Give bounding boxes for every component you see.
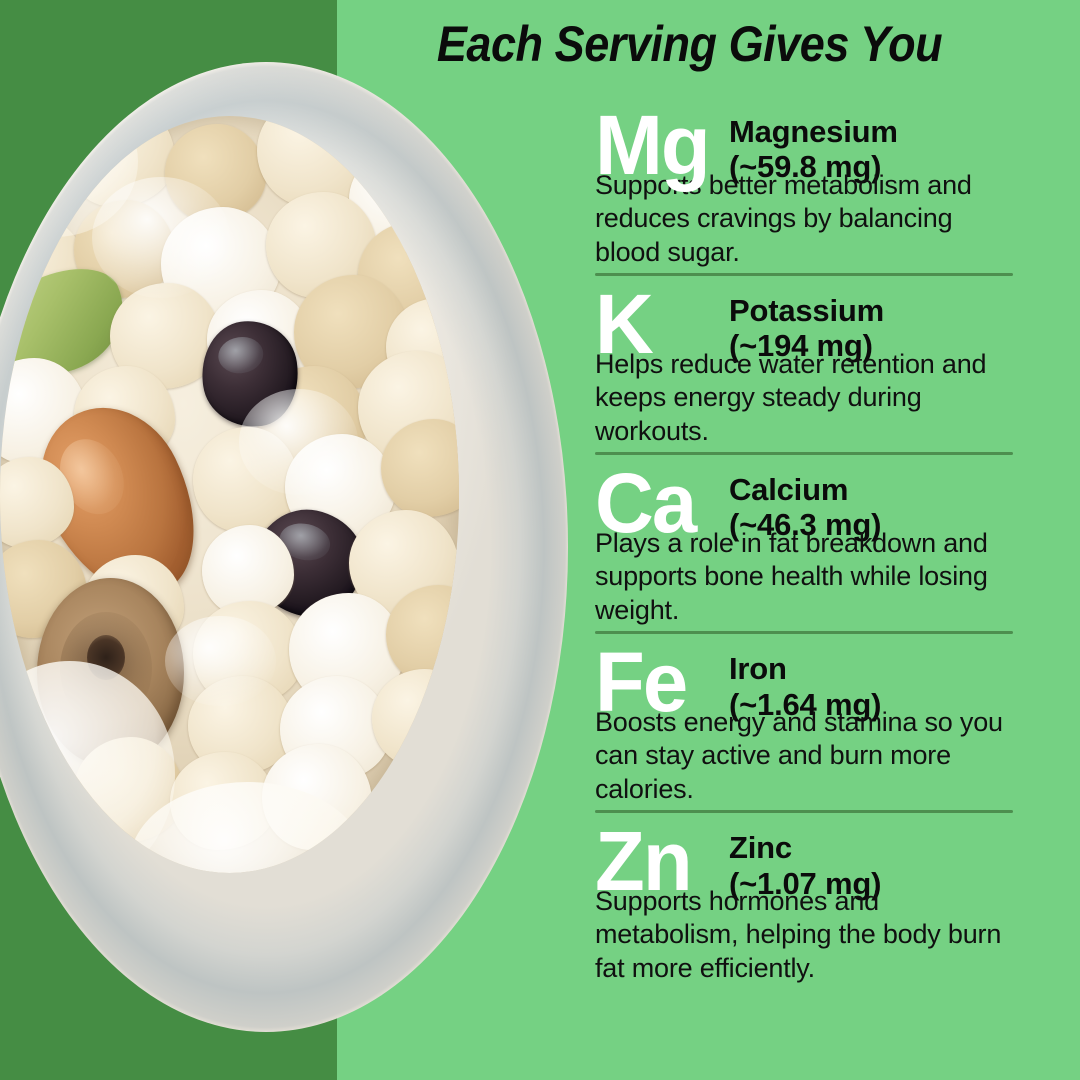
photo-panel — [0, 0, 337, 1080]
nutrient-name: Iron — [729, 651, 1023, 686]
element-symbol-mg: Mg — [595, 110, 717, 181]
infographic-poster: Each Serving Gives You Mg Magnesium (~59… — [0, 0, 1080, 1080]
nutrient-description: Helps reduce water retention and keeps e… — [595, 348, 1019, 448]
nutrient-item-calcium: Ca Calcium (~46.3 mg) Plays a role in fa… — [595, 466, 1023, 634]
nutrient-name: Calcium — [729, 472, 1023, 507]
nutrient-item-iron: Fe Iron (~1.64 mg) Boosts energy and sta… — [595, 645, 1023, 813]
nutrition-content: Each Serving Gives You Mg Magnesium (~59… — [337, 0, 1080, 1080]
element-symbol-ca: Ca — [595, 468, 717, 539]
nutrient-name: Magnesium — [729, 114, 1023, 149]
nutrient-item-potassium: K Potassium (~194 mg) Helps reduce water… — [595, 287, 1023, 455]
nutrient-name: Potassium — [729, 293, 1023, 328]
element-symbol-zn: Zn — [595, 826, 717, 897]
element-symbol-k: K — [595, 289, 717, 360]
nutrient-list: Mg Magnesium (~59.8 mg) Supports better … — [595, 108, 1023, 1003]
element-symbol-fe: Fe — [595, 647, 717, 718]
nutrient-item-zinc: Zn Zinc (~1.07 mg) Supports hormones and… — [595, 824, 1023, 992]
page-title: Each Serving Gives You — [372, 18, 1007, 71]
nutrient-item-magnesium: Mg Magnesium (~59.8 mg) Supports better … — [595, 108, 1023, 276]
nutrient-name: Zinc — [729, 830, 1023, 865]
